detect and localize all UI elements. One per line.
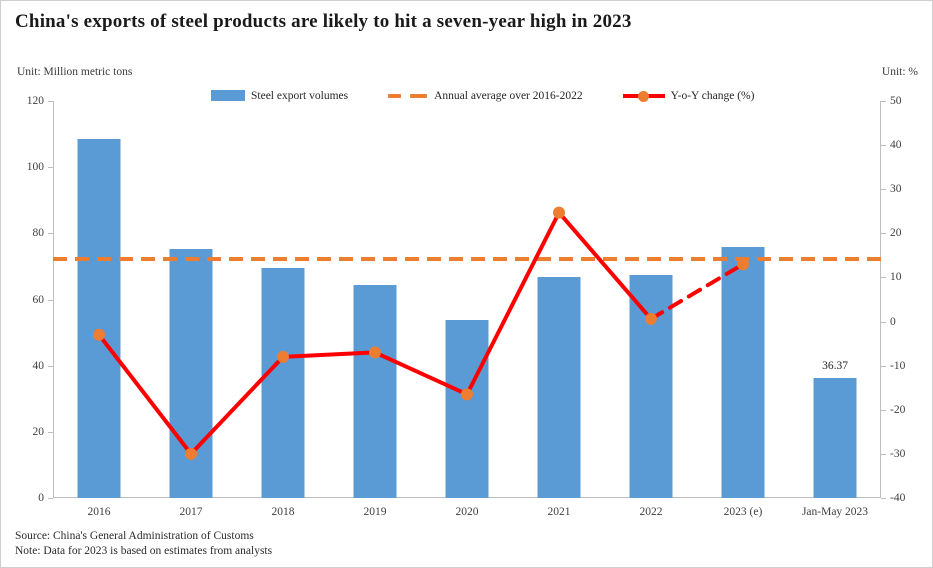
x-axis-tick-label: 2017 bbox=[180, 506, 203, 518]
x-axis-tick-label: 2018 bbox=[272, 506, 295, 518]
left-axis-tick-label: 40 bbox=[33, 360, 45, 372]
right-axis-tick-label: 50 bbox=[890, 95, 902, 107]
right-axis-tick bbox=[881, 322, 886, 323]
x-axis-tick-label: 2019 bbox=[364, 506, 387, 518]
yoy-data-point[interactable] bbox=[645, 313, 657, 325]
x-axis-tick-label: 2023 (e) bbox=[724, 506, 763, 518]
yoy-data-point[interactable] bbox=[737, 258, 749, 270]
x-axis-tick-label: Jan-May 2023 bbox=[802, 506, 868, 518]
yoy-data-point[interactable] bbox=[553, 207, 565, 219]
note-line: Note: Data for 2023 is based on estimate… bbox=[15, 544, 272, 559]
right-axis-tick-label: -20 bbox=[890, 404, 905, 416]
yoy-line-segment bbox=[467, 213, 559, 395]
dashed-line-icon bbox=[388, 90, 428, 101]
right-axis-tick bbox=[881, 366, 886, 367]
yoy-line-segment bbox=[559, 213, 651, 319]
right-axis-tick bbox=[881, 233, 886, 234]
right-axis-tick-label: 10 bbox=[890, 271, 902, 283]
page-title: China's exports of steel products are li… bbox=[15, 11, 632, 33]
yoy-data-point[interactable] bbox=[277, 351, 289, 363]
x-axis-tick-label: 2020 bbox=[456, 506, 479, 518]
yoy-data-point[interactable] bbox=[461, 388, 473, 400]
right-axis-unit-label: Unit: % bbox=[882, 66, 918, 78]
left-axis-tick-label: 20 bbox=[33, 426, 45, 438]
right-axis-tick-label: -10 bbox=[890, 360, 905, 372]
left-axis-unit-label: Unit: Million metric tons bbox=[17, 66, 132, 78]
left-axis-tick-label: 120 bbox=[27, 95, 44, 107]
right-axis-tick bbox=[881, 498, 886, 499]
left-axis-tick-label: 80 bbox=[33, 227, 45, 239]
footer-notes: Source: China's General Administration o… bbox=[15, 529, 272, 559]
right-axis-tick bbox=[881, 277, 886, 278]
right-axis-tick-label: 0 bbox=[890, 316, 896, 328]
right-axis-tick bbox=[881, 410, 886, 411]
right-axis-tick bbox=[881, 145, 886, 146]
source-line: Source: China's General Administration o… bbox=[15, 529, 272, 544]
right-axis-tick-label: 40 bbox=[890, 139, 902, 151]
right-axis-tick-label: 30 bbox=[890, 183, 902, 195]
yoy-data-point[interactable] bbox=[93, 329, 105, 341]
right-axis-tick-label: -40 bbox=[890, 492, 905, 504]
right-axis-tick-label: -30 bbox=[890, 448, 905, 460]
legend-item-steel-export-volumes[interactable]: Steel export volumes bbox=[211, 90, 348, 102]
left-axis-tick-label: 0 bbox=[38, 492, 44, 504]
x-axis-tick-label: 2022 bbox=[640, 506, 663, 518]
right-axis-tick bbox=[881, 101, 886, 102]
legend-label: Steel export volumes bbox=[251, 90, 348, 102]
legend-label: Y-o-Y change (%) bbox=[671, 90, 755, 102]
yoy-line-segment bbox=[651, 264, 743, 319]
x-axis-tick-label: 2016 bbox=[88, 506, 111, 518]
left-axis-tick-label: 60 bbox=[33, 294, 45, 306]
yoy-data-point[interactable] bbox=[185, 448, 197, 460]
yoy-change-line-series bbox=[53, 101, 881, 498]
right-axis-tick bbox=[881, 189, 886, 190]
yoy-line-segment bbox=[191, 357, 283, 454]
right-axis-tick-label: 20 bbox=[890, 227, 902, 239]
x-axis-tick-label: 2021 bbox=[548, 506, 571, 518]
yoy-data-point[interactable] bbox=[369, 346, 381, 358]
left-axis-tick-label: 100 bbox=[27, 161, 44, 173]
bar-swatch-icon bbox=[211, 90, 245, 101]
yoy-line-segment bbox=[99, 335, 191, 454]
legend-item-annual-average[interactable]: Annual average over 2016-2022 bbox=[388, 90, 583, 102]
chart-plot-area: 020406080100120 -40-30-20-1001020304050 … bbox=[53, 101, 881, 498]
yoy-line-segment bbox=[283, 352, 375, 356]
yoy-line-segment bbox=[375, 352, 467, 394]
right-axis-tick bbox=[881, 454, 886, 455]
legend-label: Annual average over 2016-2022 bbox=[434, 90, 583, 102]
left-axis-tick bbox=[48, 498, 53, 499]
